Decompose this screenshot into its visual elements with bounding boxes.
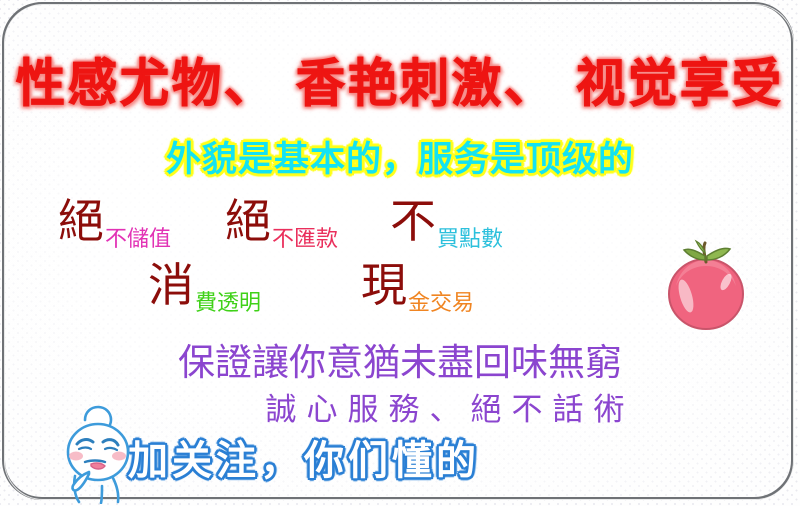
promise-lead-char: 消: [148, 262, 194, 308]
promise-lead-char: 現: [361, 262, 407, 308]
footer-call-to-action: 加关注，你们懂的: [128, 428, 480, 486]
tomato-illustration: [660, 238, 752, 334]
promise-lead-char: 不: [390, 198, 436, 244]
promise-lead-char: 絕: [58, 198, 104, 244]
promise-tail-text: 買點數: [437, 229, 503, 251]
promise-tail-text: 不儲值: [105, 229, 171, 251]
promise-tail-text: 金交易: [408, 293, 474, 315]
promise-item-no-transfer: 絕 不匯款: [225, 198, 338, 244]
promise-item-no-points: 不 買點數: [390, 198, 503, 244]
promise-lead-char: 絕: [225, 198, 271, 244]
promise-item-transparent-spending: 消 費透明: [148, 262, 261, 308]
subheadline-text: 外貌是基本的，服务是顶级的: [0, 131, 800, 182]
bunny-mascot-illustration: [55, 404, 147, 504]
promise-tail-text: 費透明: [195, 293, 261, 315]
advertisement-poster: 性感尤物、 香艳刺激、 视觉享受 外貌是基本的，服务是顶级的 絕 不儲值 絕 不…: [0, 0, 800, 506]
headline-text: 性感尤物、 香艳刺激、 视觉享受: [0, 43, 800, 117]
tagline-primary: 保證讓你意猶未盡回味無窮: [0, 332, 800, 386]
promise-item-cash-payment: 現 金交易: [361, 262, 474, 308]
promise-item-no-deposit: 絕 不儲值: [58, 198, 171, 244]
promise-tail-text: 不匯款: [272, 229, 338, 251]
